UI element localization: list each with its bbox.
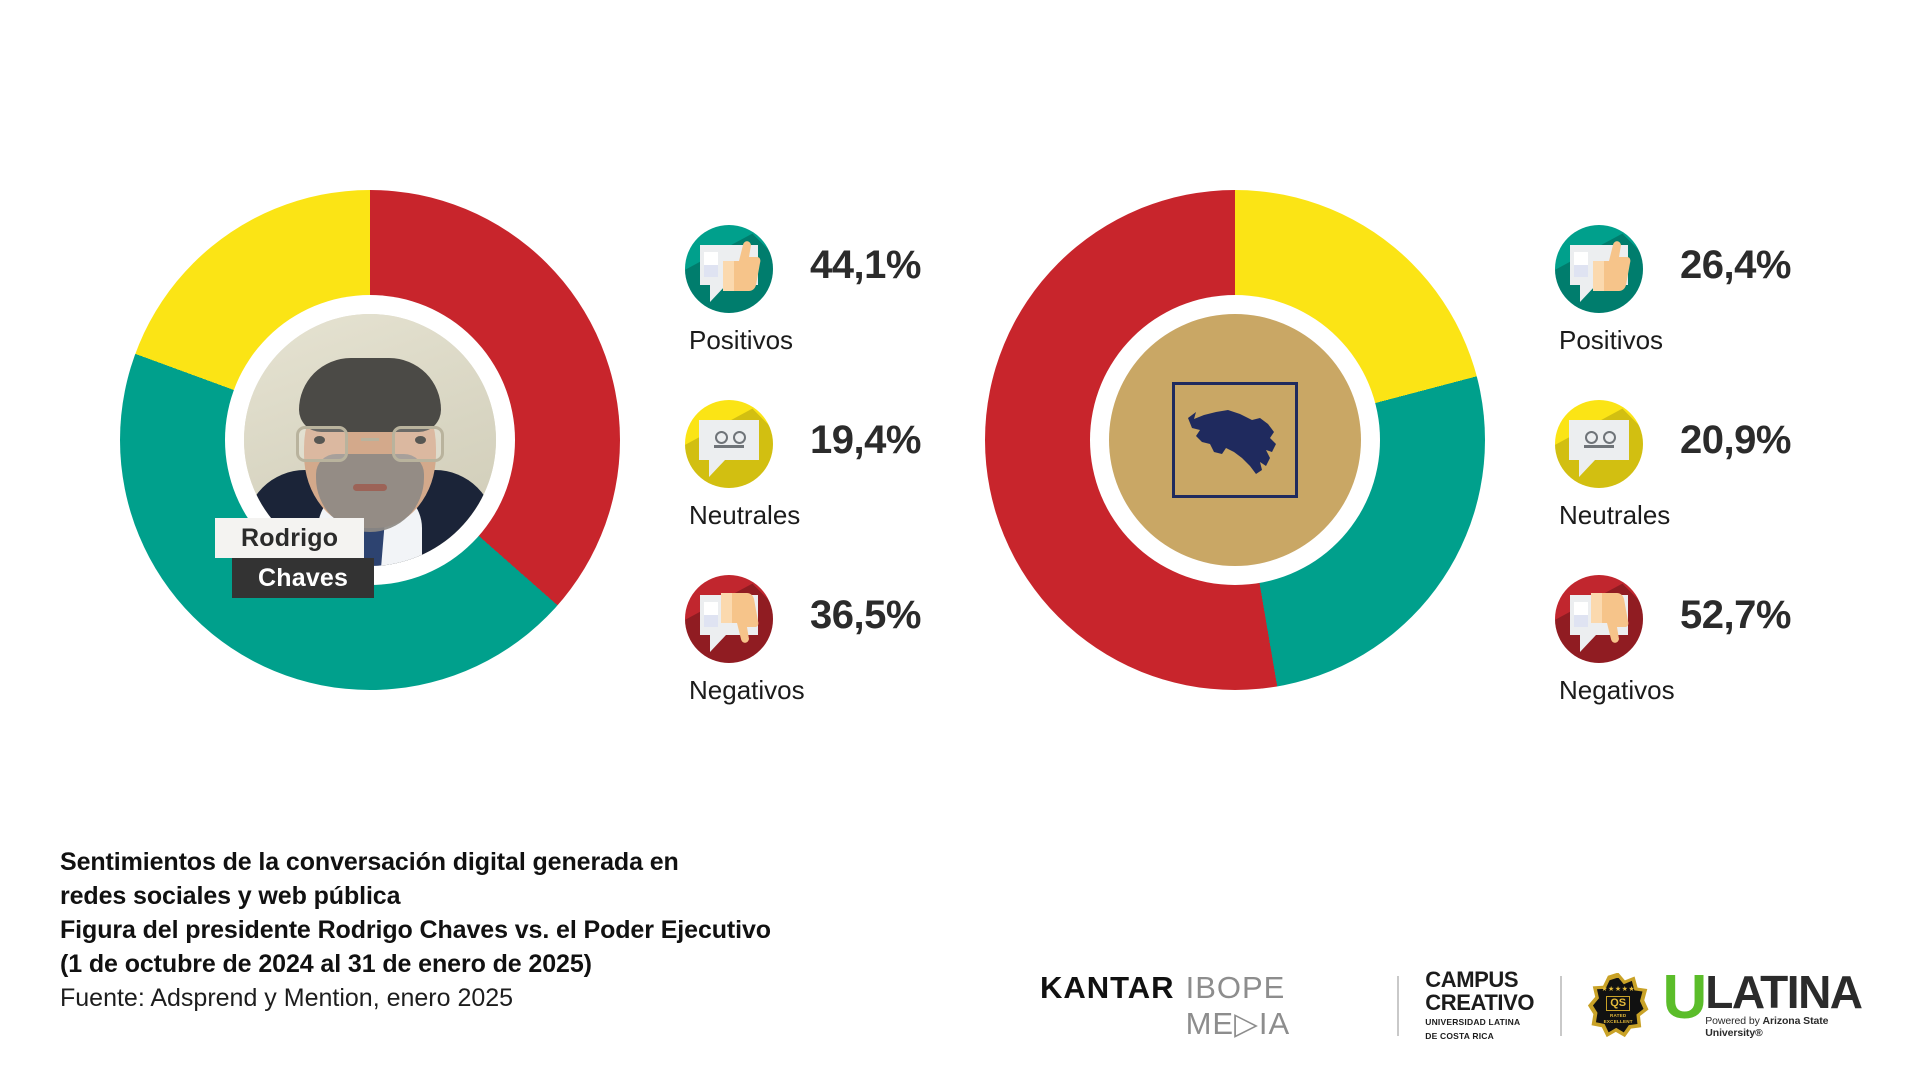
caption-source: Fuente: Adsprend y Mention, enero 2025 — [60, 981, 980, 1015]
legend-value: 52,7% — [1680, 593, 1791, 638]
campus-line-2: CREATIVO — [1425, 992, 1534, 1014]
portrait-mouth — [353, 484, 387, 491]
infographic-canvas: Rodrigo Chaves — [0, 0, 1920, 1080]
chart-poder-ejecutivo — [985, 190, 1485, 690]
campus-creativo-logo: CAMPUS CREATIVO UNIVERSIDAD LATINA DE CO… — [1425, 969, 1534, 1041]
ulatina-wordmark: LATINA — [1705, 972, 1870, 1012]
legend-item-negativos: 36,5% Negativos — [685, 575, 1015, 750]
legend-label: Positivos — [1559, 325, 1663, 356]
name-tag-last: Chaves — [232, 558, 374, 598]
costa-rica-map-icon — [1182, 396, 1288, 484]
legend-label: Neutrales — [1559, 500, 1670, 531]
caption-line-4: (1 de octubre de 2024 al 31 de enero de … — [60, 947, 980, 981]
portrait-glasses-right — [392, 426, 444, 462]
ibope-media-wordmark: IBOPE ME▷IA — [1186, 970, 1372, 1042]
thumbs-down-icon — [685, 575, 773, 663]
thumbs-up-icon — [685, 225, 773, 313]
legend-value: 36,5% — [810, 593, 921, 638]
ulatina-powered-by: Powered by Arizona State University® — [1705, 1015, 1870, 1039]
ulatina-logo: ★★★★★ QS RATED EXCELLENT U LATINA Powere… — [1588, 972, 1870, 1039]
legend-value: 44,1% — [810, 243, 921, 288]
legend-label: Negativos — [689, 675, 805, 706]
ulatina-u-mark: U — [1663, 972, 1705, 1024]
powered-by-prefix: Powered by — [1705, 1015, 1762, 1027]
thumbs-down-icon — [1555, 575, 1643, 663]
logo-divider-2 — [1560, 976, 1562, 1036]
neutral-face-icon — [685, 400, 773, 488]
qs-mark: QS — [1606, 996, 1630, 1011]
logo-divider-1 — [1397, 976, 1399, 1036]
portrait-glasses-left — [296, 426, 348, 462]
legend-label: Neutrales — [689, 500, 800, 531]
qs-rated-excellent-badge: ★★★★★ QS RATED EXCELLENT — [1588, 973, 1649, 1039]
legend-label: Positivos — [689, 325, 793, 356]
campus-line-1: CAMPUS — [1425, 969, 1534, 991]
caption-line-2: redes sociales y web pública — [60, 879, 980, 913]
qs-stars: ★★★★★ — [1601, 986, 1635, 993]
legend-item-neutrales: 20,9% Neutrales — [1555, 400, 1885, 575]
neutral-face-icon — [1555, 400, 1643, 488]
caption-line-1: Sentimientos de la conversación digital … — [60, 845, 980, 879]
legend-value: 26,4% — [1680, 243, 1791, 288]
legend-poder-ejecutivo: 26,4% Positivos 20,9% Neutrales — [1555, 225, 1885, 750]
kantar-ibope-media-logo: KANTAR IBOPE ME▷IA — [1040, 970, 1371, 1042]
legend-item-negativos: 52,7% Negativos — [1555, 575, 1885, 750]
legend-item-positivos: 44,1% Positivos — [685, 225, 1015, 400]
legend-value: 19,4% — [810, 418, 921, 463]
qs-rated-line-2: EXCELLENT — [1601, 1019, 1635, 1025]
campus-sub-2: DE COSTA RICA — [1425, 1031, 1534, 1042]
thumbs-up-icon — [1555, 225, 1643, 313]
caption-block: Sentimientos de la conversación digital … — [60, 845, 980, 1015]
portrait-hair — [299, 358, 441, 432]
legend-label: Negativos — [1559, 675, 1675, 706]
legend-rodrigo-chaves: 44,1% Positivos 19,4% Neutrales — [685, 225, 1015, 750]
costa-rica-medallion — [1109, 314, 1361, 566]
kantar-wordmark: KANTAR — [1040, 970, 1175, 1006]
caption-line-3: Figura del presidente Rodrigo Chaves vs.… — [60, 913, 980, 947]
chart-rodrigo-chaves — [120, 190, 620, 690]
legend-value: 20,9% — [1680, 418, 1791, 463]
name-tag-first: Rodrigo — [215, 518, 364, 558]
portrait-glasses-bridge — [361, 438, 379, 441]
campus-sub-1: UNIVERSIDAD LATINA — [1425, 1017, 1534, 1028]
legend-item-neutrales: 19,4% Neutrales — [685, 400, 1015, 575]
legend-item-positivos: 26,4% Positivos — [1555, 225, 1885, 400]
logo-bar: KANTAR IBOPE ME▷IA CAMPUS CREATIVO UNIVE… — [1040, 958, 1870, 1053]
